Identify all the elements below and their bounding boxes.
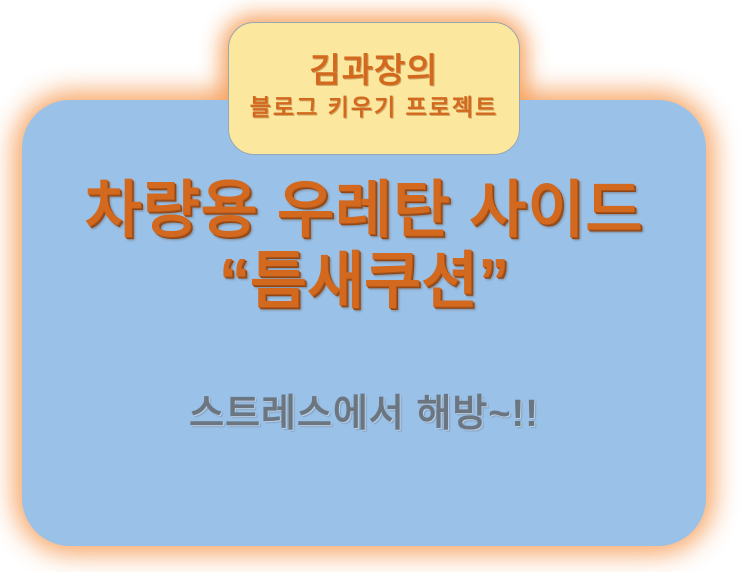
headline-line-1: 차량용 우레탄 사이드 bbox=[85, 178, 644, 245]
subtitle-text: 스트레스에서 해방~!! bbox=[189, 382, 539, 437]
badge-title-line-1: 김과장의 bbox=[309, 54, 438, 90]
headline-block: 차량용 우레탄 사이드 “틈새쿠션” 스트레스에서 해방~!! bbox=[22, 100, 706, 546]
poster-canvas: 김과장의 블로그 키우기 프로젝트 차량용 우레탄 사이드 “틈새쿠션” 스트레… bbox=[0, 0, 743, 572]
headline-line-2: “틈새쿠션” bbox=[219, 247, 509, 316]
